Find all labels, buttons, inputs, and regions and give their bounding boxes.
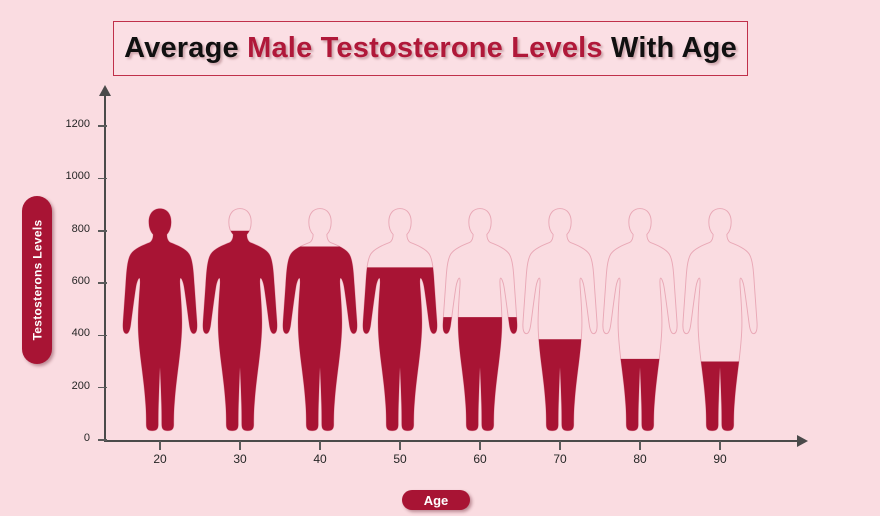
x-axis-tick-label: 50 (380, 452, 420, 466)
figure-bar-age-70 (517, 205, 603, 437)
figure-fill (203, 209, 277, 431)
y-axis-tick (98, 178, 107, 180)
y-axis-tick (98, 439, 107, 441)
y-axis-tick-label: 800 (48, 223, 90, 235)
y-axis-tick (98, 387, 107, 389)
x-axis-tick (479, 441, 481, 450)
x-axis-tick (159, 441, 161, 450)
y-axis-tick (98, 230, 107, 232)
figure-outline (523, 209, 597, 431)
figure-fill (123, 209, 197, 431)
figure-bar-age-90 (677, 205, 763, 437)
figure-bar-age-40 (277, 205, 363, 437)
title-segment-accent: Male Testosterone Levels (247, 32, 603, 64)
title-segment-3: With Age (603, 32, 737, 64)
figure-bar-age-60 (437, 205, 523, 437)
x-axis-tick (399, 441, 401, 450)
y-axis-tick (98, 282, 107, 284)
x-axis-tick-label: 80 (620, 452, 660, 466)
figure-outline (603, 209, 677, 431)
x-axis-title-pill: Age (402, 490, 470, 510)
x-axis-tick (239, 441, 241, 450)
chart-title-box: Average Male Testosterone Levels With Ag… (113, 21, 748, 76)
x-axis-tick (639, 441, 641, 450)
y-axis-tick (98, 125, 107, 127)
x-axis-tick-label: 30 (220, 452, 260, 466)
figure-fill (603, 209, 677, 431)
y-axis-line (104, 93, 106, 441)
x-axis-line (104, 440, 799, 442)
y-axis-arrow-icon (99, 85, 111, 96)
figure-bar-age-80 (597, 205, 683, 437)
y-axis-tick-label: 1000 (48, 170, 90, 182)
figure-bar-age-30 (197, 205, 283, 437)
x-axis-tick (719, 441, 721, 450)
x-axis-tick (559, 441, 561, 450)
figure-fill (443, 209, 517, 431)
y-axis-tick (98, 335, 107, 337)
x-axis-tick-label: 20 (140, 452, 180, 466)
y-axis-tick-label: 600 (48, 275, 90, 287)
x-axis-tick-label: 90 (700, 452, 740, 466)
figure-bar-age-50 (357, 205, 443, 437)
x-axis-tick-label: 70 (540, 452, 580, 466)
y-axis-tick-label: 400 (48, 327, 90, 339)
y-axis-tick-label: 0 (48, 432, 90, 444)
x-axis-title-label: Age (424, 493, 449, 508)
y-axis-title-pill: Testosterons Levels (22, 196, 52, 364)
figure-fill (363, 209, 437, 431)
x-axis-tick-label: 60 (460, 452, 500, 466)
chart-canvas: Average Male Testosterone Levels With Ag… (0, 0, 880, 516)
figure-fill (283, 209, 357, 431)
x-axis-tick (319, 441, 321, 450)
page-title: Average Male Testosterone Levels With Ag… (124, 32, 737, 65)
figure-outline (683, 209, 757, 431)
y-axis-title-label: Testosterons Levels (30, 220, 44, 341)
title-segment-1: Average (124, 32, 247, 64)
figure-fill (683, 209, 757, 431)
y-axis-tick-label: 200 (48, 380, 90, 392)
x-axis-tick-label: 40 (300, 452, 340, 466)
x-axis-arrow-icon (797, 435, 808, 447)
figure-bar-age-20 (117, 205, 203, 437)
figure-fill (523, 209, 597, 431)
y-axis-tick-label: 1200 (48, 118, 90, 130)
